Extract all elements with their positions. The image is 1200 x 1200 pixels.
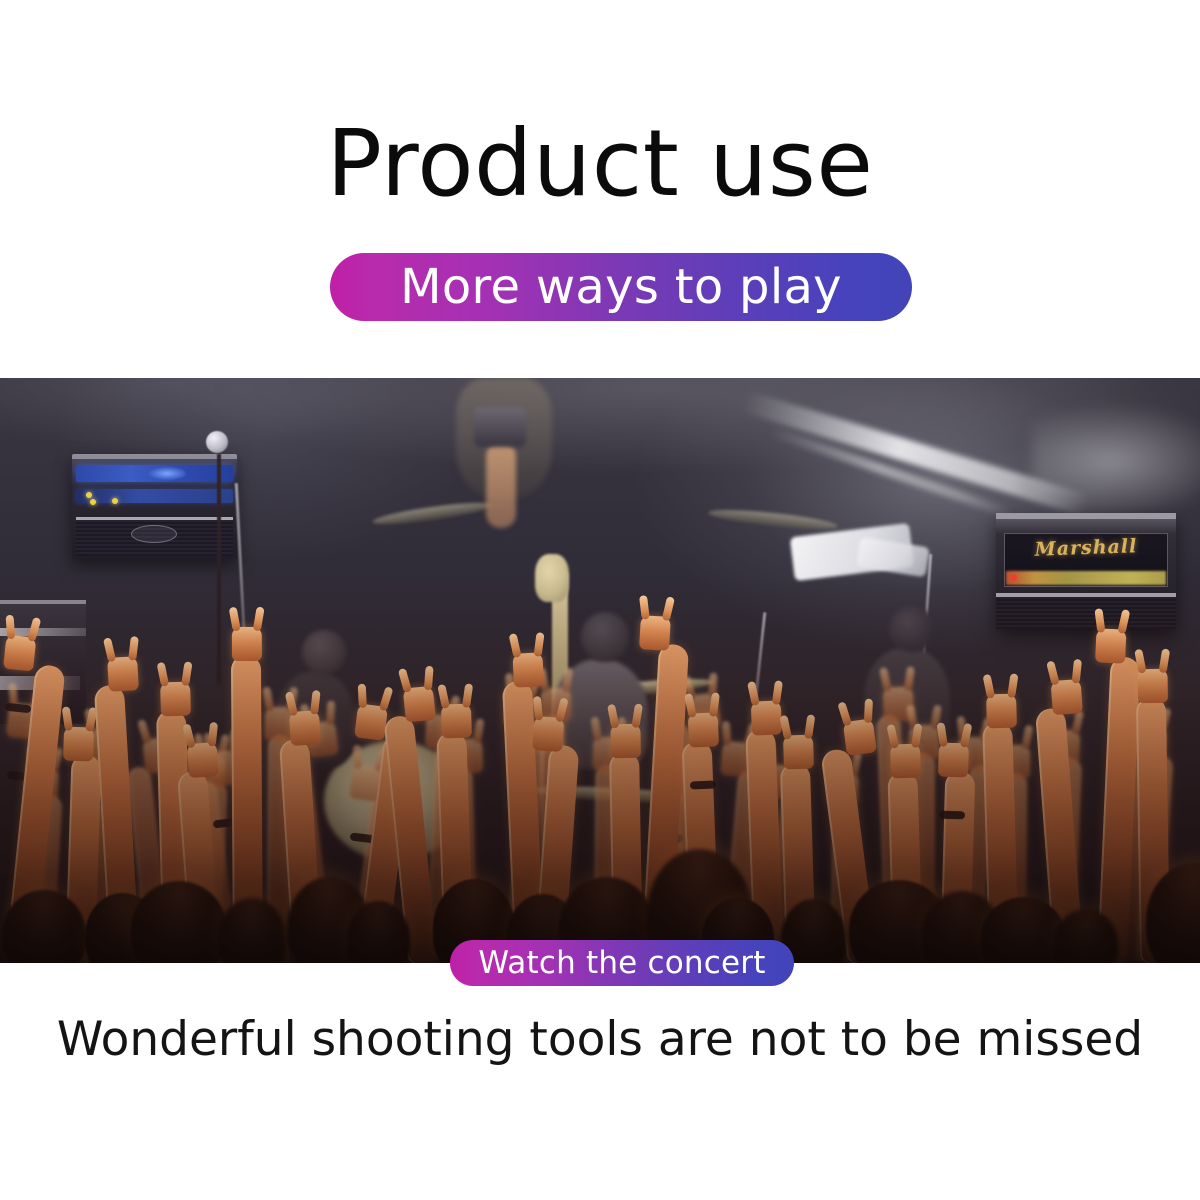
amp-knob-icon [90, 499, 96, 505]
watch-concert-button[interactable]: Watch the concert [450, 940, 794, 986]
watch-concert-button-label: Watch the concert [478, 945, 765, 981]
concert-photo: Marshall [0, 378, 1200, 963]
amp-brand-badge-icon [148, 467, 186, 480]
photo-caption: Wonderful shooting tools are not to be m… [0, 1014, 1200, 1066]
crowd-shadow-gradient [0, 577, 1200, 963]
amp-knob-icon [112, 498, 118, 504]
microphone-icon [206, 431, 228, 453]
subtitle-pill[interactable]: More ways to play [330, 253, 912, 321]
product-use-banner: Product use More ways to play [0, 0, 1200, 1200]
left-amplifier [72, 454, 237, 559]
photo-scene: Marshall [0, 378, 1200, 963]
camera-icon [474, 407, 526, 447]
page-title: Product use [0, 118, 1200, 210]
amp-control-panel-lower [76, 489, 233, 503]
amp-knob-icon [86, 492, 92, 498]
raised-arm [486, 442, 516, 528]
subtitle-pill-label: More ways to play [400, 259, 842, 315]
marshall-logo: Marshall [1034, 535, 1137, 561]
crowd-layer [0, 577, 1200, 963]
